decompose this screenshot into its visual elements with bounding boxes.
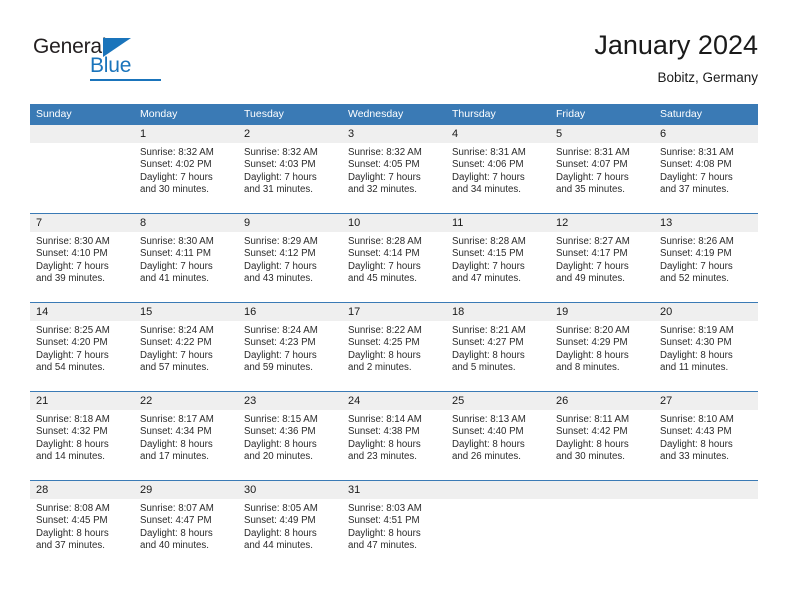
- day-daylight-line2-text: and 32 minutes.: [348, 184, 440, 196]
- week-row: 21222324252627Sunrise: 8:18 AMSunset: 4:…: [30, 391, 758, 480]
- day-daylight-line1-text: Daylight: 8 hours: [244, 528, 336, 540]
- day-cell[interactable]: Sunrise: 8:21 AMSunset: 4:27 PMDaylight:…: [446, 321, 550, 391]
- weekday-header-wednesday: Wednesday: [342, 104, 446, 125]
- day-number[interactable]: 20: [654, 303, 758, 321]
- day-daylight-line2-text: and 23 minutes.: [348, 451, 440, 463]
- day-cell[interactable]: Sunrise: 8:29 AMSunset: 4:12 PMDaylight:…: [238, 232, 342, 302]
- day-number[interactable]: 25: [446, 392, 550, 410]
- day-sunset-text: Sunset: 4:47 PM: [140, 515, 232, 527]
- day-daylight-line2-text: and 14 minutes.: [36, 451, 128, 463]
- week-row: 78910111213Sunrise: 8:30 AMSunset: 4:10 …: [30, 213, 758, 302]
- day-number[interactable]: 17: [342, 303, 446, 321]
- day-sunrise-text: Sunrise: 8:29 AM: [244, 236, 336, 248]
- day-number[interactable]: 19: [550, 303, 654, 321]
- day-daylight-line2-text: and 47 minutes.: [348, 540, 440, 552]
- day-sunrise-text: Sunrise: 8:28 AM: [348, 236, 440, 248]
- day-sunset-text: Sunset: 4:03 PM: [244, 159, 336, 171]
- day-daylight-line1-text: Daylight: 8 hours: [452, 439, 544, 451]
- day-daylight-line1-text: Daylight: 8 hours: [660, 439, 752, 451]
- day-sunrise-text: Sunrise: 8:07 AM: [140, 503, 232, 515]
- day-daylight-line2-text: and 37 minutes.: [660, 184, 752, 196]
- day-cell-empty: [30, 143, 134, 213]
- day-daylight-line2-text: and 43 minutes.: [244, 273, 336, 285]
- day-number[interactable]: 22: [134, 392, 238, 410]
- day-daylight-line2-text: and 49 minutes.: [556, 273, 648, 285]
- day-number[interactable]: 11: [446, 214, 550, 232]
- day-sunrise-text: Sunrise: 8:15 AM: [244, 414, 336, 426]
- day-cell[interactable]: Sunrise: 8:32 AMSunset: 4:03 PMDaylight:…: [238, 143, 342, 213]
- day-number-empty: [30, 125, 134, 143]
- day-cell[interactable]: Sunrise: 8:20 AMSunset: 4:29 PMDaylight:…: [550, 321, 654, 391]
- day-cell[interactable]: Sunrise: 8:30 AMSunset: 4:10 PMDaylight:…: [30, 232, 134, 302]
- day-sunrise-text: Sunrise: 8:31 AM: [556, 147, 648, 159]
- day-daylight-line1-text: Daylight: 7 hours: [452, 172, 544, 184]
- day-daylight-line2-text: and 52 minutes.: [660, 273, 752, 285]
- day-number[interactable]: 26: [550, 392, 654, 410]
- day-sunrise-text: Sunrise: 8:05 AM: [244, 503, 336, 515]
- day-number[interactable]: 3: [342, 125, 446, 143]
- day-cell[interactable]: Sunrise: 8:32 AMSunset: 4:05 PMDaylight:…: [342, 143, 446, 213]
- day-number-band: 28293031: [30, 481, 758, 499]
- day-daylight-line1-text: Daylight: 7 hours: [348, 261, 440, 273]
- day-sunset-text: Sunset: 4:45 PM: [36, 515, 128, 527]
- day-cell[interactable]: Sunrise: 8:08 AMSunset: 4:45 PMDaylight:…: [30, 499, 134, 569]
- day-cell[interactable]: Sunrise: 8:11 AMSunset: 4:42 PMDaylight:…: [550, 410, 654, 480]
- logo-underline: [90, 79, 161, 81]
- day-sunset-text: Sunset: 4:38 PM: [348, 426, 440, 438]
- day-sunrise-text: Sunrise: 8:31 AM: [452, 147, 544, 159]
- day-cell-empty: [446, 499, 550, 569]
- day-daylight-line2-text: and 30 minutes.: [556, 451, 648, 463]
- day-daylight-line1-text: Daylight: 7 hours: [348, 172, 440, 184]
- day-daylight-line1-text: Daylight: 7 hours: [244, 261, 336, 273]
- day-sunrise-text: Sunrise: 8:13 AM: [452, 414, 544, 426]
- day-number[interactable]: 31: [342, 481, 446, 499]
- day-sunrise-text: Sunrise: 8:31 AM: [660, 147, 752, 159]
- day-sunset-text: Sunset: 4:10 PM: [36, 248, 128, 260]
- day-sunrise-text: Sunrise: 8:32 AM: [348, 147, 440, 159]
- day-number[interactable]: 28: [30, 481, 134, 499]
- day-daylight-line1-text: Daylight: 8 hours: [140, 528, 232, 540]
- weekday-header-sunday: Sunday: [30, 104, 134, 125]
- day-number[interactable]: 16: [238, 303, 342, 321]
- day-daylight-line1-text: Daylight: 7 hours: [660, 261, 752, 273]
- day-daylight-line2-text: and 47 minutes.: [452, 273, 544, 285]
- day-detail-band: Sunrise: 8:32 AMSunset: 4:02 PMDaylight:…: [30, 143, 758, 213]
- day-sunset-text: Sunset: 4:15 PM: [452, 248, 544, 260]
- day-daylight-line1-text: Daylight: 8 hours: [36, 528, 128, 540]
- day-number[interactable]: 2: [238, 125, 342, 143]
- day-cell[interactable]: Sunrise: 8:14 AMSunset: 4:38 PMDaylight:…: [342, 410, 446, 480]
- day-daylight-line1-text: Daylight: 7 hours: [36, 261, 128, 273]
- day-number-empty: [550, 481, 654, 499]
- day-daylight-line2-text: and 40 minutes.: [140, 540, 232, 552]
- day-sunset-text: Sunset: 4:36 PM: [244, 426, 336, 438]
- day-sunset-text: Sunset: 4:06 PM: [452, 159, 544, 171]
- day-cell-empty: [654, 499, 758, 569]
- day-daylight-line1-text: Daylight: 8 hours: [556, 350, 648, 362]
- day-sunset-text: Sunset: 4:19 PM: [660, 248, 752, 260]
- day-sunrise-text: Sunrise: 8:30 AM: [36, 236, 128, 248]
- title-block: January 2024 Bobitz, Germany: [594, 30, 758, 86]
- day-number[interactable]: 13: [654, 214, 758, 232]
- day-cell[interactable]: Sunrise: 8:31 AMSunset: 4:06 PMDaylight:…: [446, 143, 550, 213]
- day-sunrise-text: Sunrise: 8:20 AM: [556, 325, 648, 337]
- day-number[interactable]: 30: [238, 481, 342, 499]
- day-daylight-line1-text: Daylight: 8 hours: [348, 528, 440, 540]
- day-sunset-text: Sunset: 4:22 PM: [140, 337, 232, 349]
- day-number[interactable]: 1: [134, 125, 238, 143]
- day-daylight-line2-text: and 31 minutes.: [244, 184, 336, 196]
- day-sunset-text: Sunset: 4:14 PM: [348, 248, 440, 260]
- day-daylight-line1-text: Daylight: 7 hours: [556, 172, 648, 184]
- day-detail-band: Sunrise: 8:18 AMSunset: 4:32 PMDaylight:…: [30, 410, 758, 480]
- day-cell[interactable]: Sunrise: 8:26 AMSunset: 4:19 PMDaylight:…: [654, 232, 758, 302]
- day-cell[interactable]: Sunrise: 8:22 AMSunset: 4:25 PMDaylight:…: [342, 321, 446, 391]
- day-sunrise-text: Sunrise: 8:32 AM: [244, 147, 336, 159]
- day-cell[interactable]: Sunrise: 8:15 AMSunset: 4:36 PMDaylight:…: [238, 410, 342, 480]
- day-number[interactable]: 9: [238, 214, 342, 232]
- page-title: January 2024: [594, 30, 758, 62]
- day-sunrise-text: Sunrise: 8:24 AM: [244, 325, 336, 337]
- day-daylight-line1-text: Daylight: 7 hours: [452, 261, 544, 273]
- day-sunrise-text: Sunrise: 8:30 AM: [140, 236, 232, 248]
- day-daylight-line2-text: and 37 minutes.: [36, 540, 128, 552]
- day-sunrise-text: Sunrise: 8:26 AM: [660, 236, 752, 248]
- weekday-header-row: Sunday Monday Tuesday Wednesday Thursday…: [30, 104, 758, 125]
- week-row: 123456Sunrise: 8:32 AMSunset: 4:02 PMDay…: [30, 125, 758, 213]
- day-cell[interactable]: Sunrise: 8:28 AMSunset: 4:15 PMDaylight:…: [446, 232, 550, 302]
- day-daylight-line2-text: and 5 minutes.: [452, 362, 544, 374]
- day-number[interactable]: 23: [238, 392, 342, 410]
- day-cell[interactable]: Sunrise: 8:30 AMSunset: 4:11 PMDaylight:…: [134, 232, 238, 302]
- day-number-empty: [446, 481, 550, 499]
- day-cell[interactable]: Sunrise: 8:05 AMSunset: 4:49 PMDaylight:…: [238, 499, 342, 569]
- day-sunset-text: Sunset: 4:12 PM: [244, 248, 336, 260]
- day-cell[interactable]: Sunrise: 8:24 AMSunset: 4:23 PMDaylight:…: [238, 321, 342, 391]
- day-sunrise-text: Sunrise: 8:19 AM: [660, 325, 752, 337]
- day-sunrise-text: Sunrise: 8:21 AM: [452, 325, 544, 337]
- day-sunset-text: Sunset: 4:17 PM: [556, 248, 648, 260]
- calendar-page: General Blue January 2024 Bobitz, German…: [0, 0, 792, 612]
- day-number[interactable]: 27: [654, 392, 758, 410]
- day-daylight-line2-text: and 41 minutes.: [140, 273, 232, 285]
- day-sunset-text: Sunset: 4:20 PM: [36, 337, 128, 349]
- day-cell[interactable]: Sunrise: 8:27 AMSunset: 4:17 PMDaylight:…: [550, 232, 654, 302]
- day-sunset-text: Sunset: 4:30 PM: [660, 337, 752, 349]
- day-sunset-text: Sunset: 4:51 PM: [348, 515, 440, 527]
- day-cell[interactable]: Sunrise: 8:32 AMSunset: 4:02 PMDaylight:…: [134, 143, 238, 213]
- day-cell[interactable]: Sunrise: 8:18 AMSunset: 4:32 PMDaylight:…: [30, 410, 134, 480]
- day-daylight-line1-text: Daylight: 7 hours: [140, 172, 232, 184]
- day-daylight-line1-text: Daylight: 7 hours: [556, 261, 648, 273]
- day-cell[interactable]: Sunrise: 8:28 AMSunset: 4:14 PMDaylight:…: [342, 232, 446, 302]
- day-cell-empty: [550, 499, 654, 569]
- day-sunset-text: Sunset: 4:42 PM: [556, 426, 648, 438]
- day-sunset-text: Sunset: 4:29 PM: [556, 337, 648, 349]
- day-daylight-line1-text: Daylight: 7 hours: [244, 172, 336, 184]
- day-daylight-line2-text: and 57 minutes.: [140, 362, 232, 374]
- day-daylight-line1-text: Daylight: 8 hours: [660, 350, 752, 362]
- day-sunrise-text: Sunrise: 8:22 AM: [348, 325, 440, 337]
- day-sunset-text: Sunset: 4:23 PM: [244, 337, 336, 349]
- day-sunset-text: Sunset: 4:02 PM: [140, 159, 232, 171]
- day-daylight-line1-text: Daylight: 8 hours: [452, 350, 544, 362]
- day-sunset-text: Sunset: 4:11 PM: [140, 248, 232, 260]
- day-sunset-text: Sunset: 4:27 PM: [452, 337, 544, 349]
- calendar-table: Sunday Monday Tuesday Wednesday Thursday…: [30, 104, 758, 569]
- week-row: 14151617181920Sunrise: 8:25 AMSunset: 4:…: [30, 302, 758, 391]
- day-number[interactable]: 10: [342, 214, 446, 232]
- day-daylight-line2-text: and 35 minutes.: [556, 184, 648, 196]
- day-detail-band: Sunrise: 8:08 AMSunset: 4:45 PMDaylight:…: [30, 499, 758, 569]
- day-daylight-line2-text: and 44 minutes.: [244, 540, 336, 552]
- day-sunrise-text: Sunrise: 8:28 AM: [452, 236, 544, 248]
- day-daylight-line2-text: and 33 minutes.: [660, 451, 752, 463]
- day-cell[interactable]: Sunrise: 8:24 AMSunset: 4:22 PMDaylight:…: [134, 321, 238, 391]
- day-number[interactable]: 7: [30, 214, 134, 232]
- day-daylight-line2-text: and 39 minutes.: [36, 273, 128, 285]
- day-number[interactable]: 5: [550, 125, 654, 143]
- day-daylight-line2-text: and 45 minutes.: [348, 273, 440, 285]
- day-sunset-text: Sunset: 4:34 PM: [140, 426, 232, 438]
- day-number[interactable]: 21: [30, 392, 134, 410]
- day-sunset-text: Sunset: 4:08 PM: [660, 159, 752, 171]
- day-cell[interactable]: Sunrise: 8:07 AMSunset: 4:47 PMDaylight:…: [134, 499, 238, 569]
- weekday-header-monday: Monday: [134, 104, 238, 125]
- day-daylight-line1-text: Daylight: 8 hours: [36, 439, 128, 451]
- logo-text-blue: Blue: [90, 55, 131, 76]
- day-sunrise-text: Sunrise: 8:27 AM: [556, 236, 648, 248]
- day-daylight-line1-text: Daylight: 8 hours: [556, 439, 648, 451]
- weekday-header-tuesday: Tuesday: [238, 104, 342, 125]
- day-sunset-text: Sunset: 4:49 PM: [244, 515, 336, 527]
- week-row: 28293031Sunrise: 8:08 AMSunset: 4:45 PMD…: [30, 480, 758, 569]
- day-sunset-text: Sunset: 4:32 PM: [36, 426, 128, 438]
- day-cell[interactable]: Sunrise: 8:31 AMSunset: 4:08 PMDaylight:…: [654, 143, 758, 213]
- day-daylight-line1-text: Daylight: 8 hours: [140, 439, 232, 451]
- day-number[interactable]: 29: [134, 481, 238, 499]
- day-sunrise-text: Sunrise: 8:08 AM: [36, 503, 128, 515]
- day-sunrise-text: Sunrise: 8:25 AM: [36, 325, 128, 337]
- day-sunset-text: Sunset: 4:25 PM: [348, 337, 440, 349]
- day-sunrise-text: Sunrise: 8:11 AM: [556, 414, 648, 426]
- day-daylight-line2-text: and 8 minutes.: [556, 362, 648, 374]
- day-number[interactable]: 24: [342, 392, 446, 410]
- day-number[interactable]: 15: [134, 303, 238, 321]
- day-sunrise-text: Sunrise: 8:24 AM: [140, 325, 232, 337]
- day-daylight-line1-text: Daylight: 8 hours: [348, 439, 440, 451]
- day-cell[interactable]: Sunrise: 8:25 AMSunset: 4:20 PMDaylight:…: [30, 321, 134, 391]
- day-sunrise-text: Sunrise: 8:10 AM: [660, 414, 752, 426]
- day-daylight-line1-text: Daylight: 7 hours: [244, 350, 336, 362]
- day-daylight-line2-text: and 54 minutes.: [36, 362, 128, 374]
- weekday-header-saturday: Saturday: [654, 104, 758, 125]
- day-number-band: 78910111213: [30, 214, 758, 232]
- day-daylight-line2-text: and 30 minutes.: [140, 184, 232, 196]
- location-subtitle: Bobitz, Germany: [594, 70, 758, 86]
- day-sunset-text: Sunset: 4:07 PM: [556, 159, 648, 171]
- day-daylight-line2-text: and 59 minutes.: [244, 362, 336, 374]
- day-number[interactable]: 14: [30, 303, 134, 321]
- day-number[interactable]: 4: [446, 125, 550, 143]
- day-cell[interactable]: Sunrise: 8:13 AMSunset: 4:40 PMDaylight:…: [446, 410, 550, 480]
- day-number[interactable]: 6: [654, 125, 758, 143]
- day-daylight-line1-text: Daylight: 7 hours: [140, 350, 232, 362]
- day-number-band: 14151617181920: [30, 303, 758, 321]
- day-sunrise-text: Sunrise: 8:03 AM: [348, 503, 440, 515]
- day-daylight-line1-text: Daylight: 7 hours: [140, 261, 232, 273]
- day-daylight-line2-text: and 34 minutes.: [452, 184, 544, 196]
- day-cell[interactable]: Sunrise: 8:31 AMSunset: 4:07 PMDaylight:…: [550, 143, 654, 213]
- page-header: General Blue January 2024 Bobitz, German…: [0, 0, 792, 104]
- day-sunset-text: Sunset: 4:05 PM: [348, 159, 440, 171]
- day-sunrise-text: Sunrise: 8:14 AM: [348, 414, 440, 426]
- calendar-weeks: 123456Sunrise: 8:32 AMSunset: 4:02 PMDay…: [30, 125, 758, 569]
- day-daylight-line2-text: and 2 minutes.: [348, 362, 440, 374]
- day-number[interactable]: 18: [446, 303, 550, 321]
- day-daylight-line1-text: Daylight: 8 hours: [348, 350, 440, 362]
- day-daylight-line2-text: and 11 minutes.: [660, 362, 752, 374]
- weekday-header-friday: Friday: [550, 104, 654, 125]
- day-cell[interactable]: Sunrise: 8:17 AMSunset: 4:34 PMDaylight:…: [134, 410, 238, 480]
- day-number-empty: [654, 481, 758, 499]
- day-daylight-line2-text: and 26 minutes.: [452, 451, 544, 463]
- day-number-band: 123456: [30, 125, 758, 143]
- day-daylight-line1-text: Daylight: 8 hours: [244, 439, 336, 451]
- day-daylight-line2-text: and 17 minutes.: [140, 451, 232, 463]
- day-number[interactable]: 12: [550, 214, 654, 232]
- day-sunset-text: Sunset: 4:40 PM: [452, 426, 544, 438]
- day-daylight-line1-text: Daylight: 7 hours: [660, 172, 752, 184]
- day-cell[interactable]: Sunrise: 8:03 AMSunset: 4:51 PMDaylight:…: [342, 499, 446, 569]
- day-detail-band: Sunrise: 8:25 AMSunset: 4:20 PMDaylight:…: [30, 321, 758, 391]
- day-cell[interactable]: Sunrise: 8:10 AMSunset: 4:43 PMDaylight:…: [654, 410, 758, 480]
- day-number-band: 21222324252627: [30, 392, 758, 410]
- day-sunrise-text: Sunrise: 8:18 AM: [36, 414, 128, 426]
- day-number[interactable]: 8: [134, 214, 238, 232]
- day-sunrise-text: Sunrise: 8:17 AM: [140, 414, 232, 426]
- day-cell[interactable]: Sunrise: 8:19 AMSunset: 4:30 PMDaylight:…: [654, 321, 758, 391]
- day-sunrise-text: Sunrise: 8:32 AM: [140, 147, 232, 159]
- weekday-header-thursday: Thursday: [446, 104, 550, 125]
- day-daylight-line2-text: and 20 minutes.: [244, 451, 336, 463]
- day-detail-band: Sunrise: 8:30 AMSunset: 4:10 PMDaylight:…: [30, 232, 758, 302]
- general-blue-logo[interactable]: General Blue: [33, 36, 163, 84]
- day-daylight-line1-text: Daylight: 7 hours: [36, 350, 128, 362]
- day-sunset-text: Sunset: 4:43 PM: [660, 426, 752, 438]
